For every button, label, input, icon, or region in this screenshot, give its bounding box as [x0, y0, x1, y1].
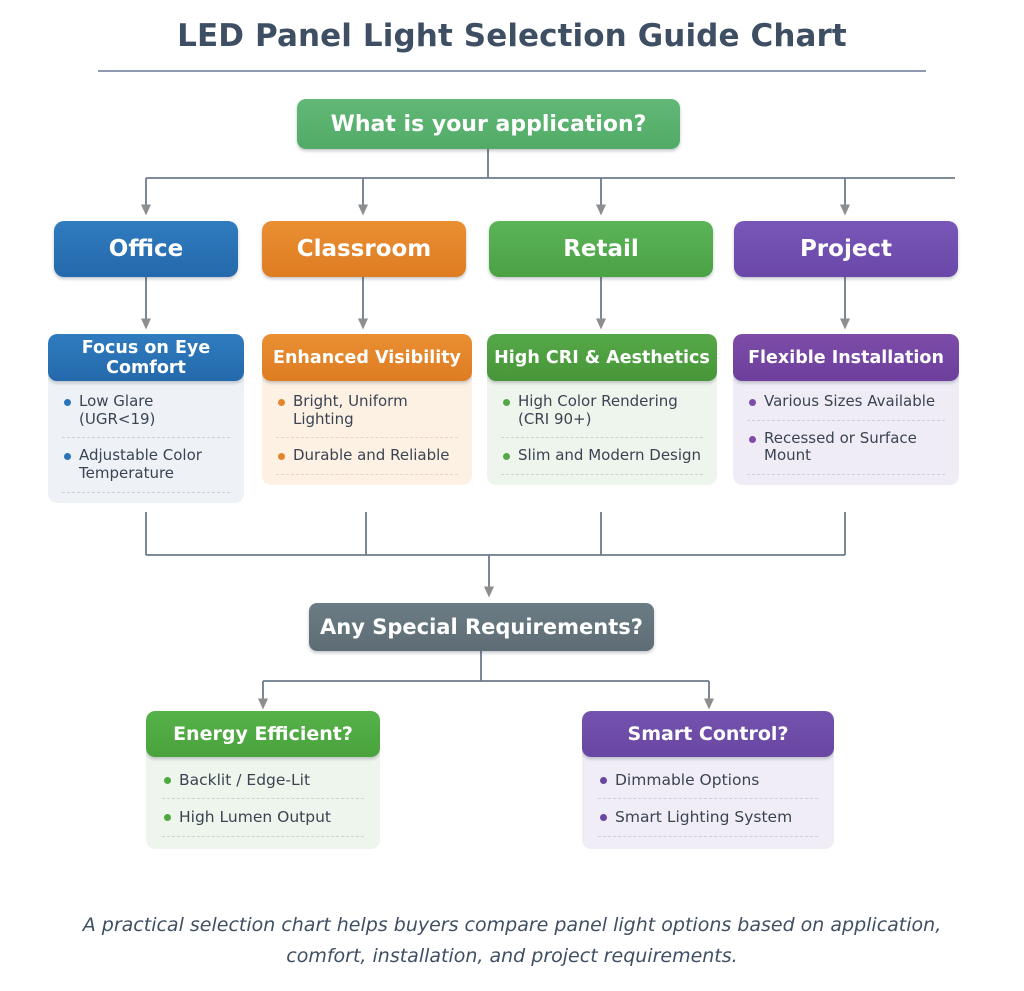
feature-text: Backlit / Edge-Lit: [179, 771, 310, 789]
feature-text: Low Glare (UGR<19): [79, 393, 230, 428]
page-title: LED Panel Light Selection Guide Chart: [0, 18, 1024, 54]
card-project-heading: Flexible Installation: [733, 334, 959, 381]
bullet-icon: [64, 399, 71, 406]
feature-text: Adjustable Color Temperature: [79, 447, 230, 482]
card-classroom: Enhanced Visibility Bright, Uniform Ligh…: [262, 334, 472, 485]
card-project-body: Various Sizes Available Recessed or Surf…: [733, 375, 959, 485]
title-divider: [98, 70, 926, 72]
feature-text: Various Sizes Available: [764, 393, 935, 411]
feature-text: Durable and Reliable: [293, 447, 450, 465]
node-special-requirements[interactable]: Any Special Requirements?: [309, 603, 654, 651]
list-item: Adjustable Color Temperature: [62, 447, 230, 492]
node-category-classroom[interactable]: Classroom: [262, 221, 466, 277]
bullet-icon: [600, 814, 607, 821]
card-office: Focus on Eye Comfort Low Glare (UGR<19) …: [48, 334, 244, 503]
card-office-heading: Focus on Eye Comfort: [48, 334, 244, 381]
list-item: Low Glare (UGR<19): [62, 393, 230, 438]
node-category-office[interactable]: Office: [54, 221, 238, 277]
card-classroom-body: Bright, Uniform Lighting Durable and Rel…: [262, 375, 472, 485]
list-item: Backlit / Edge-Lit: [162, 771, 364, 799]
bullet-icon: [503, 399, 510, 406]
feature-text: High Color Rendering (CRI 90+): [518, 393, 703, 428]
card-project: Flexible Installation Various Sizes Avai…: [733, 334, 959, 485]
bullet-icon: [278, 453, 285, 460]
feature-text: High Lumen Output: [179, 808, 331, 826]
bullet-icon: [503, 453, 510, 460]
feature-text: Bright, Uniform Lighting: [293, 393, 458, 428]
list-item: Bright, Uniform Lighting: [276, 393, 458, 438]
node-application-question[interactable]: What is your application?: [297, 99, 680, 149]
card-smart-body: Dimmable Options Smart Lighting System: [582, 751, 834, 849]
bullet-icon: [64, 453, 71, 460]
node-category-retail[interactable]: Retail: [489, 221, 713, 277]
bullet-icon: [278, 399, 285, 406]
card-energy-body: Backlit / Edge-Lit High Lumen Output: [146, 751, 380, 849]
list-item: Various Sizes Available: [747, 393, 945, 421]
card-retail: High CRI & Aesthetics High Color Renderi…: [487, 334, 717, 485]
bullet-icon: [164, 777, 171, 784]
feature-text: Recessed or Surface Mount: [764, 430, 945, 465]
bullet-icon: [749, 436, 756, 443]
flowchart-page: LED Panel Light Selection Guide Chart: [0, 0, 1024, 991]
list-item: Recessed or Surface Mount: [747, 430, 945, 475]
card-office-body: Low Glare (UGR<19) Adjustable Color Temp…: [48, 375, 244, 503]
card-smart-control: Smart Control? Dimmable Options Smart Li…: [582, 711, 834, 849]
list-item: Durable and Reliable: [276, 447, 458, 475]
feature-text: Slim and Modern Design: [518, 447, 701, 465]
list-item: Slim and Modern Design: [501, 447, 703, 475]
chart-caption: A practical selection chart helps buyers…: [80, 910, 944, 972]
list-item: Dimmable Options: [598, 771, 818, 799]
list-item: Smart Lighting System: [598, 808, 818, 836]
card-energy-heading: Energy Efficient?: [146, 711, 380, 757]
node-category-project[interactable]: Project: [734, 221, 958, 277]
bullet-icon: [164, 814, 171, 821]
card-retail-body: High Color Rendering (CRI 90+) Slim and …: [487, 375, 717, 485]
list-item: High Lumen Output: [162, 808, 364, 836]
list-item: High Color Rendering (CRI 90+): [501, 393, 703, 438]
feature-text: Dimmable Options: [615, 771, 759, 789]
feature-text: Smart Lighting System: [615, 808, 792, 826]
card-smart-heading: Smart Control?: [582, 711, 834, 757]
card-retail-heading: High CRI & Aesthetics: [487, 334, 717, 381]
card-energy-efficient: Energy Efficient? Backlit / Edge-Lit Hig…: [146, 711, 380, 849]
card-classroom-heading: Enhanced Visibility: [262, 334, 472, 381]
bullet-icon: [749, 399, 756, 406]
bullet-icon: [600, 777, 607, 784]
